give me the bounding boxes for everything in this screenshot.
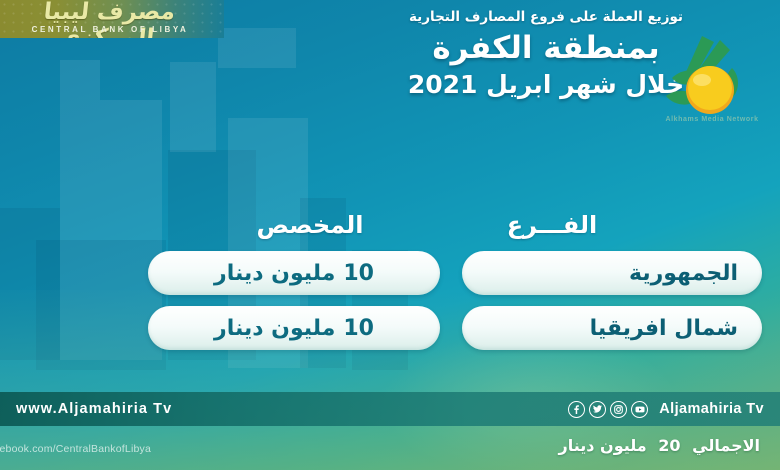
table-row: الجمهورية 10 مليون دينار <box>0 251 780 306</box>
branch-name-pill: الجمهورية <box>462 251 762 295</box>
branch-name-label: شمال افريقيا <box>590 316 738 341</box>
column-header-allocation: المخصص <box>170 211 450 239</box>
instagram-icon[interactable] <box>610 401 627 418</box>
column-header-branch: الفـــرع <box>432 211 672 239</box>
facebook-icon[interactable] <box>568 401 585 418</box>
allocation-amount-unit: مليون دينار <box>214 261 335 286</box>
total-amount-line: الاجمالي 20 مليون دينار <box>559 436 760 455</box>
allocation-amount-number: 10 <box>343 316 374 341</box>
building-shape <box>170 62 216 152</box>
central-bank-logo: مصرف ليبيا المركزي CENTRAL BANK OF LIBYA <box>0 0 224 38</box>
allocation-amount-pill: 10 مليون دينار <box>148 306 440 350</box>
footer-bar: www.Aljamahiria Tv Aljamahiria Tv <box>0 392 780 426</box>
twitter-icon[interactable] <box>589 401 606 418</box>
youtube-icon[interactable] <box>631 401 648 418</box>
headline-block: توزيع العملة على فروع المصارف التجارية ب… <box>336 8 756 101</box>
allocation-amount-number: 10 <box>343 261 374 286</box>
table-row: شمال افريقيا 10 مليون دينار <box>0 306 780 361</box>
logo-english-text: CENTRAL BANK OF LIBYA <box>0 25 220 34</box>
broadcast-graphic: مصرف ليبيا المركزي CENTRAL BANK OF LIBYA… <box>0 0 780 470</box>
social-handle-label: Aljamahiria Tv <box>659 401 764 417</box>
allocation-amount-unit: مليون دينار <box>214 316 335 341</box>
headline-line-1: توزيع العملة على فروع المصارف التجارية <box>336 8 756 26</box>
facebook-url-label[interactable]: acebook.com/CentralBankofLibya <box>0 443 151 455</box>
allocation-table: الفـــرع المخصص الجمهورية 10 مليون دينار… <box>0 205 780 361</box>
building-shape <box>218 28 296 68</box>
total-label: الاجمالي <box>692 436 760 455</box>
headline-line-2: بمنطقة الكفرة <box>336 27 756 69</box>
branch-name-label: الجمهورية <box>629 261 738 286</box>
table-header-row: الفـــرع المخصص <box>0 205 780 251</box>
total-unit: مليون دينار <box>559 436 647 455</box>
headline-line-3: خلال شهر ابريل 2021 <box>336 69 756 101</box>
watermark-caption: Alkhams Media Network <box>654 116 770 123</box>
social-links: Aljamahiria Tv <box>568 401 764 418</box>
branch-name-pill: شمال افريقيا <box>462 306 762 350</box>
allocation-amount-pill: 10 مليون دينار <box>148 251 440 295</box>
total-number: 20 <box>658 436 680 455</box>
website-label: www.Aljamahiria Tv <box>16 401 172 417</box>
